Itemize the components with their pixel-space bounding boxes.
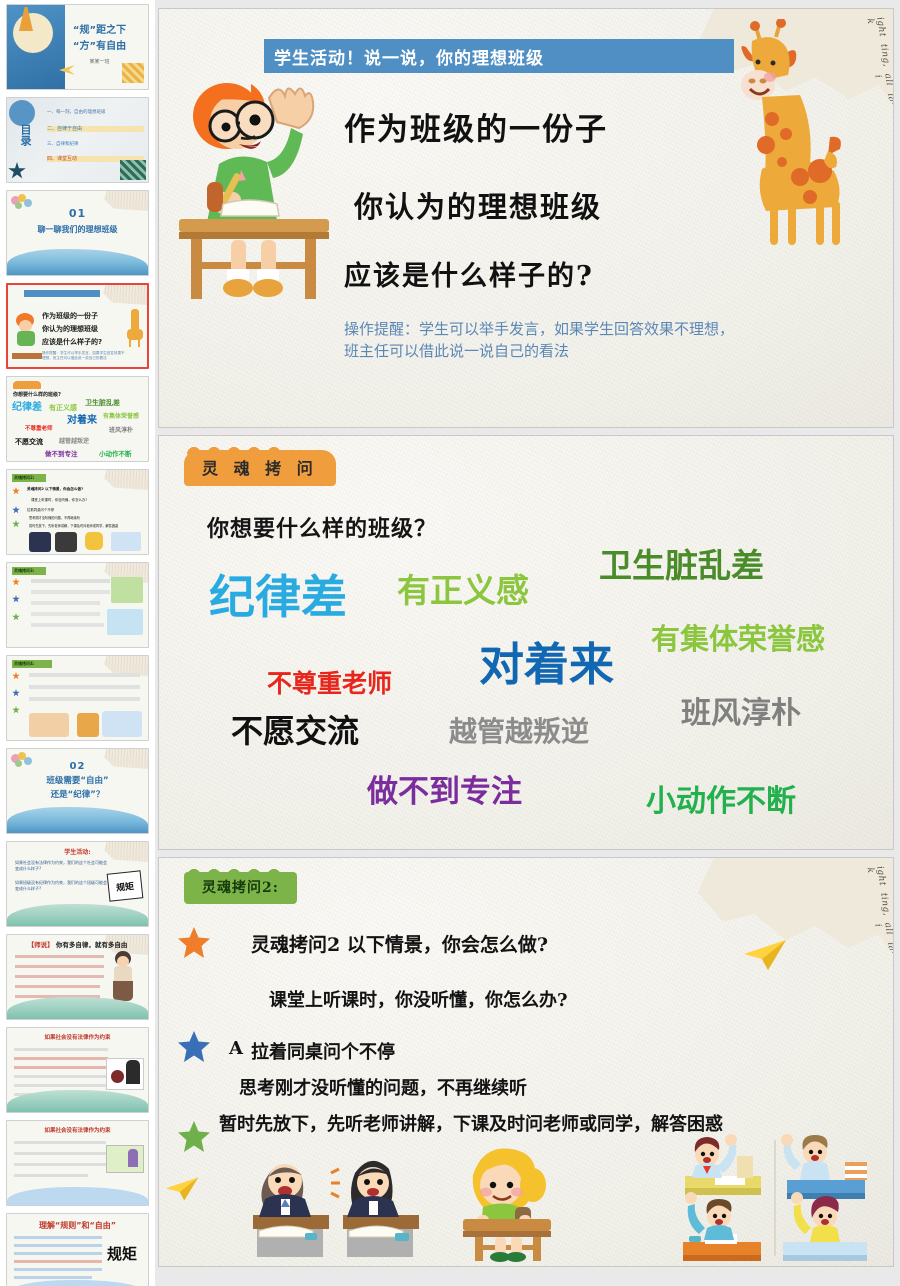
slide-1-line-2: 你认为的理想班级 <box>354 184 602 226</box>
thumb-7-tag: 灵魂拷问3: <box>14 568 148 573</box>
slide-3-tag: 灵魂拷问2: <box>184 872 297 904</box>
word-cloud-item[interactable]: 有正义感 <box>397 564 529 612</box>
slide-3-option-label: A <box>229 1038 243 1059</box>
student-raising-hand-icon <box>169 64 339 304</box>
word-cloud-item[interactable]: 对着来 <box>479 628 614 693</box>
thumb-10-line3: 如果班级没有纪律作为约束，我们的这个班级可能会变成什么样子? <box>15 880 110 892</box>
slide-thumbnail-1[interactable]: “规”距之下 “方”有自由 某某一班 <box>6 4 149 90</box>
four-students-raising-hands-icon <box>679 1134 879 1262</box>
thumb-12-line1: 如果社会没有法律作为约束 <box>7 1035 148 1042</box>
slide-thumbnail-8[interactable]: 灵魂拷问4: <box>6 655 149 741</box>
slide-1-operation-note: 操作提醒：学生可以举手发言，如果学生回答效果不理想，班主任可以借此说一说自己的看… <box>344 319 744 363</box>
word-cloud-item[interactable]: 做不到专注 <box>367 766 522 811</box>
thumb-4-line1: 作为班级的一份子 <box>42 312 125 321</box>
star-orange-icon <box>177 926 211 960</box>
slide-2-tag: 灵 魂 拷 问 <box>184 450 336 486</box>
slide-2-question: 你想要什么样的班级？ <box>207 511 437 543</box>
thumb-2-line1: 一、每一刻，自由的理想班级 <box>47 110 144 116</box>
thumb-13-line1: 如果社会没有法律作为约束 <box>7 1128 148 1135</box>
slide-thumbnail-7[interactable]: 灵魂拷问3: <box>6 562 149 648</box>
paper-plane-icon <box>164 1176 200 1202</box>
star-blue-icon <box>177 1030 211 1064</box>
thumb-2-line2: 二、自律于自由 <box>47 126 144 132</box>
slide-3[interactable]: ch ti ight k ting, all i lac io ve 1 0 a… <box>158 857 894 1267</box>
word-cloud-item[interactable]: 越管越叛逆 <box>449 710 589 750</box>
thumb-6-line3: 拉着同桌问个不停 <box>27 508 144 512</box>
torn-text-4: lac <box>699 942 894 956</box>
slide-thumbnail-2[interactable]: 目录 一、每一刻，自由的理想班级 二、自律于自由 三、自律和纪律 四、课堂互动 <box>6 97 149 183</box>
star-green-icon <box>177 1120 211 1154</box>
word-cloud-item[interactable]: 不愿交流 <box>231 706 359 752</box>
thumb-9-line1: 02 <box>7 761 148 774</box>
word-cloud: 纪律差 有正义感 卫生脏乱差 对着来 有集体荣誉感 不尊重老师 班风淳朴 不愿交… <box>159 436 893 849</box>
thumb-4-line3: 应该是什么样子的? <box>42 338 125 347</box>
slide-panel: ch ti ight k ting, all i lac io ve 1 0 v… <box>155 0 900 1286</box>
thumb-10-line1: 学生活动: <box>7 849 148 857</box>
slide-3-line-3: 拉着同桌问个不停 <box>251 1038 395 1064</box>
thumb-6-line1: 灵魂拷问2 以下情景，你会怎么做? <box>27 487 144 491</box>
giraffe-icon <box>738 19 883 249</box>
thumb-9-line2: 班级需要“自由” <box>7 776 148 787</box>
thumb-3-line2: 聊一聊我们的理想班级 <box>7 225 148 235</box>
thumb-6-line5: 暂时先放下，先听老师讲解，下课及时问老师或同学，解答困惑 <box>29 524 146 528</box>
thumb-9-line3: 还是“纪律”？ <box>7 790 148 801</box>
thumb-10-line2: 如果社会没有法律作为约束，我们的这个社会可能会变成什么样子? <box>15 860 110 872</box>
slide-1[interactable]: ch ti ight k ting, all i lac io ve 1 0 v… <box>158 8 894 428</box>
slide-3-line-4: 思考刚才没听懂的问题，不再继续听 <box>239 1074 527 1100</box>
slide-thumbnail-6[interactable]: 灵魂拷问2: 灵魂拷问2 以下情景，你会怎么做? 课堂上听课时，你没听懂，你怎么… <box>6 469 149 555</box>
slide-1-line-1: 作为班级的一份子 <box>344 104 608 149</box>
slide-thumbnail-11[interactable]: 【师说】 你有多自律，就有多自由 <box>6 934 149 1020</box>
slide-thumbnail-4[interactable]: 作为班级的一份子 你认为的理想班级 应该是什么样子的? 操作提醒：学生可以举手发… <box>6 283 149 369</box>
two-students-talking-icon <box>247 1137 427 1262</box>
word-cloud-item[interactable]: 卫生脏乱差 <box>599 539 764 587</box>
slide-thumbnail-14[interactable]: 理解“规则”和“自由” 规矩 <box>6 1213 149 1286</box>
thumb-6-tag: 灵魂拷问2: <box>14 475 148 480</box>
thumb-5-question: 你想要什么样的班级? <box>13 392 148 398</box>
thumb-1-line1: “规”距之下 <box>55 25 144 38</box>
thumb-6-line2: 课堂上听课时，你没听懂，你怎么办? <box>31 498 144 502</box>
thumb-4-line2: 你认为的理想班级 <box>42 325 125 334</box>
thumb-6-line4: 思考刚才没听懂的问题，不再继续听 <box>29 516 144 520</box>
slide-3-line-5: 暂时先放下，先听老师讲解，下课及时问老师或同学，解答困惑 <box>219 1110 723 1136</box>
thumb-8-tag: 灵魂拷问4: <box>14 661 148 666</box>
slide-thumbnail-sidebar[interactable]: “规”距之下 “方”有自由 某某一班 目录 一、每一刻，自由的理想班级 二、自律… <box>0 0 155 1286</box>
word-cloud-item[interactable]: 纪律差 <box>209 561 347 627</box>
slide-thumbnail-5[interactable]: 你想要什么样的班级? 纪律差 有正义感 卫生脏乱差 对着来 有集体荣誉感 不尊重… <box>6 376 149 462</box>
thumb-1-line2: “方”有自由 <box>55 41 144 54</box>
slide-3-line-1: 灵魂拷问2 以下情景，你会怎么做? <box>251 930 548 957</box>
presentation-viewer: “规”距之下 “方”有自由 某某一班 目录 一、每一刻，自由的理想班级 二、自律… <box>0 0 900 1286</box>
word-cloud-item[interactable]: 不尊重老师 <box>267 664 392 700</box>
paper-plane-icon <box>742 938 788 972</box>
thumb-2-line3: 三、自律和纪律 <box>47 142 144 148</box>
slide-thumbnail-13[interactable]: 如果社会没有法律作为约束 <box>6 1120 149 1206</box>
word-cloud-item[interactable]: 小动作不断 <box>646 776 796 820</box>
slide-3-line-2: 课堂上听课时，你没听懂，你怎么办? <box>269 986 568 1012</box>
slide-thumbnail-3[interactable]: 01 聊一聊我们的理想班级 <box>6 190 149 276</box>
girl-at-desk-icon <box>449 1137 561 1262</box>
thumb-4-note: 操作提醒：学生可以举手发言，如果学生回答效果不理想，班主任可以借此说一说自己的看… <box>42 351 125 360</box>
slide-thumbnail-9[interactable]: 02 班级需要“自由” 还是“纪律”？ <box>6 748 149 834</box>
slide-1-line-3: 应该是什么样子的? <box>344 254 594 293</box>
slide-thumbnail-12[interactable]: 如果社会没有法律作为约束 <box>6 1027 149 1113</box>
word-cloud-item[interactable]: 班风淳朴 <box>681 688 801 732</box>
torn-newspaper-corner: ch ti ight k ting, all i lac io ve 1 0 a… <box>685 857 894 956</box>
thumb-14-line1: 理解“规则”和“自由” <box>7 1221 148 1231</box>
slide-thumbnail-10[interactable]: 学生活动: 如果社会没有法律作为约束，我们的这个社会可能会变成什么样子? 如果班… <box>6 841 149 927</box>
slide-2[interactable]: 灵 魂 拷 问 你想要什么样的班级？ 纪律差 有正义感 卫生脏乱差 对着来 有集… <box>158 435 894 850</box>
word-cloud-item[interactable]: 有集体荣誉感 <box>651 616 825 658</box>
thumb-3-line1: 01 <box>7 207 148 221</box>
